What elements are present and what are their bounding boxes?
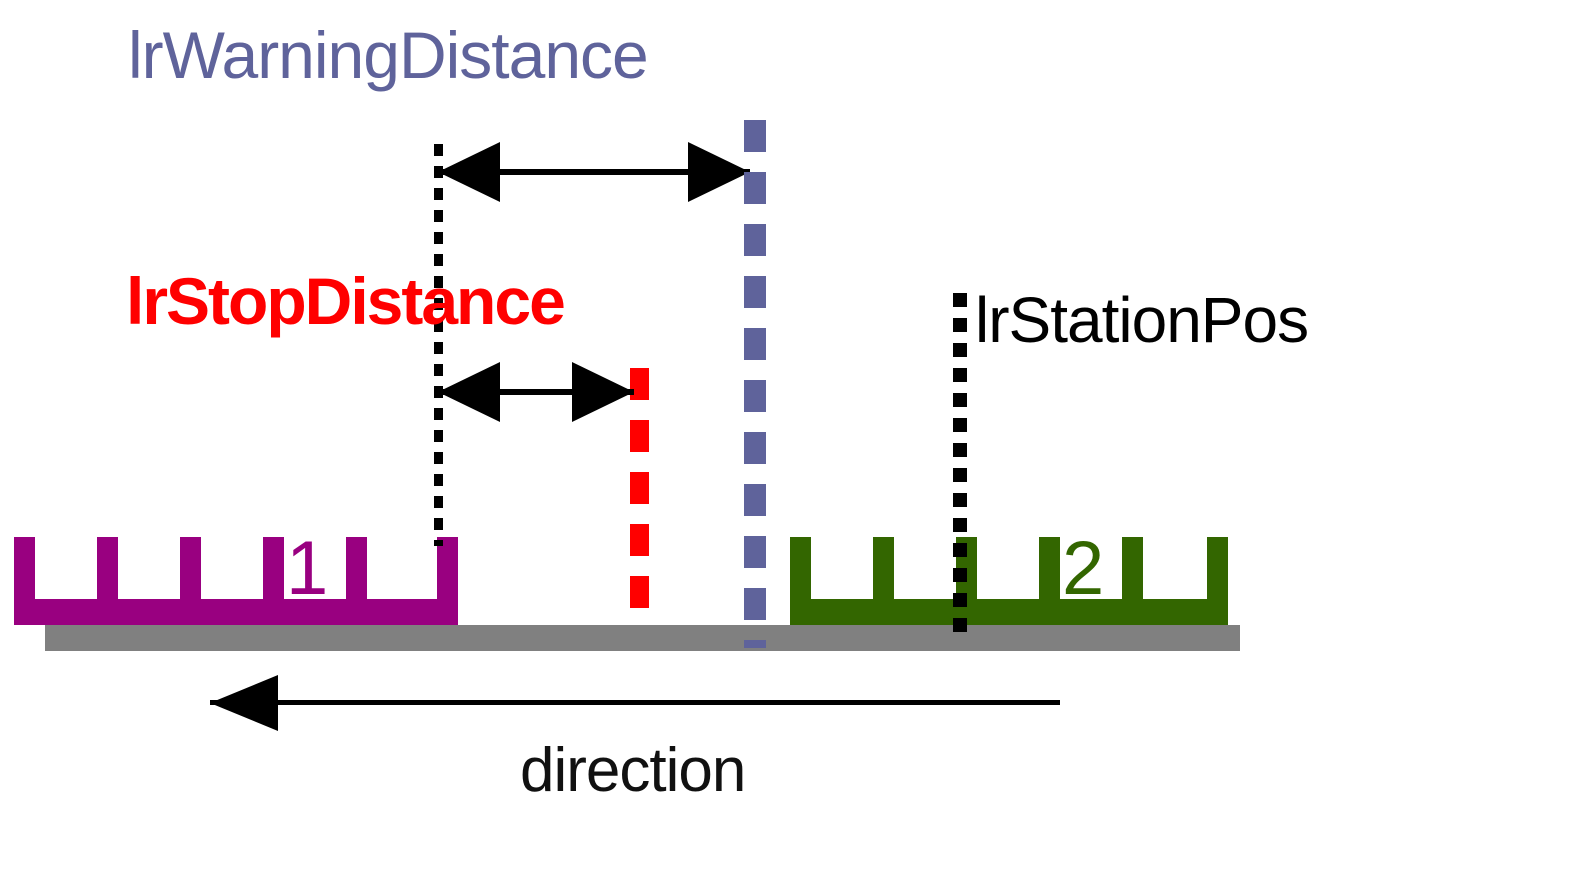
train-tooth (1207, 537, 1228, 611)
train-1-number: 1 (286, 531, 326, 607)
station-pos-label: lrStationPos (975, 288, 1308, 352)
arrow-head-left-icon (438, 362, 500, 422)
warning-distance-label: lrWarningDistance (128, 22, 648, 88)
ground-bar (45, 625, 1240, 651)
train-1: 1 (14, 537, 458, 625)
arrow-head-right-icon (572, 362, 634, 422)
stop-origin-dotted-line (434, 144, 443, 546)
train-tooth (14, 537, 35, 611)
train-base (14, 599, 458, 625)
train-2: 2 (790, 537, 1228, 625)
train-tooth (790, 537, 811, 611)
train-tooth (180, 537, 201, 611)
train-tooth (263, 537, 284, 611)
train-tooth (1122, 537, 1143, 611)
train-2-number: 2 (1062, 531, 1102, 607)
diagram-canvas: lrWarningDistance lrStopDistance lrStati… (0, 0, 1578, 888)
station-pos-dotted-line (953, 293, 967, 643)
arrow-head-left-icon (438, 142, 500, 202)
arrow-head-left-icon (210, 675, 278, 731)
train-tooth (437, 537, 458, 611)
train-tooth (1039, 537, 1060, 611)
train-tooth (346, 537, 367, 611)
train-tooth (873, 537, 894, 611)
arrow-head-right-icon (688, 142, 750, 202)
train-base (790, 599, 1228, 625)
arrow-shaft (210, 700, 1060, 705)
direction-label: direction (520, 740, 745, 802)
warning-distance-dashed-line (744, 120, 766, 648)
stop-distance-label: lrStopDistance (126, 268, 564, 334)
train-tooth (97, 537, 118, 611)
